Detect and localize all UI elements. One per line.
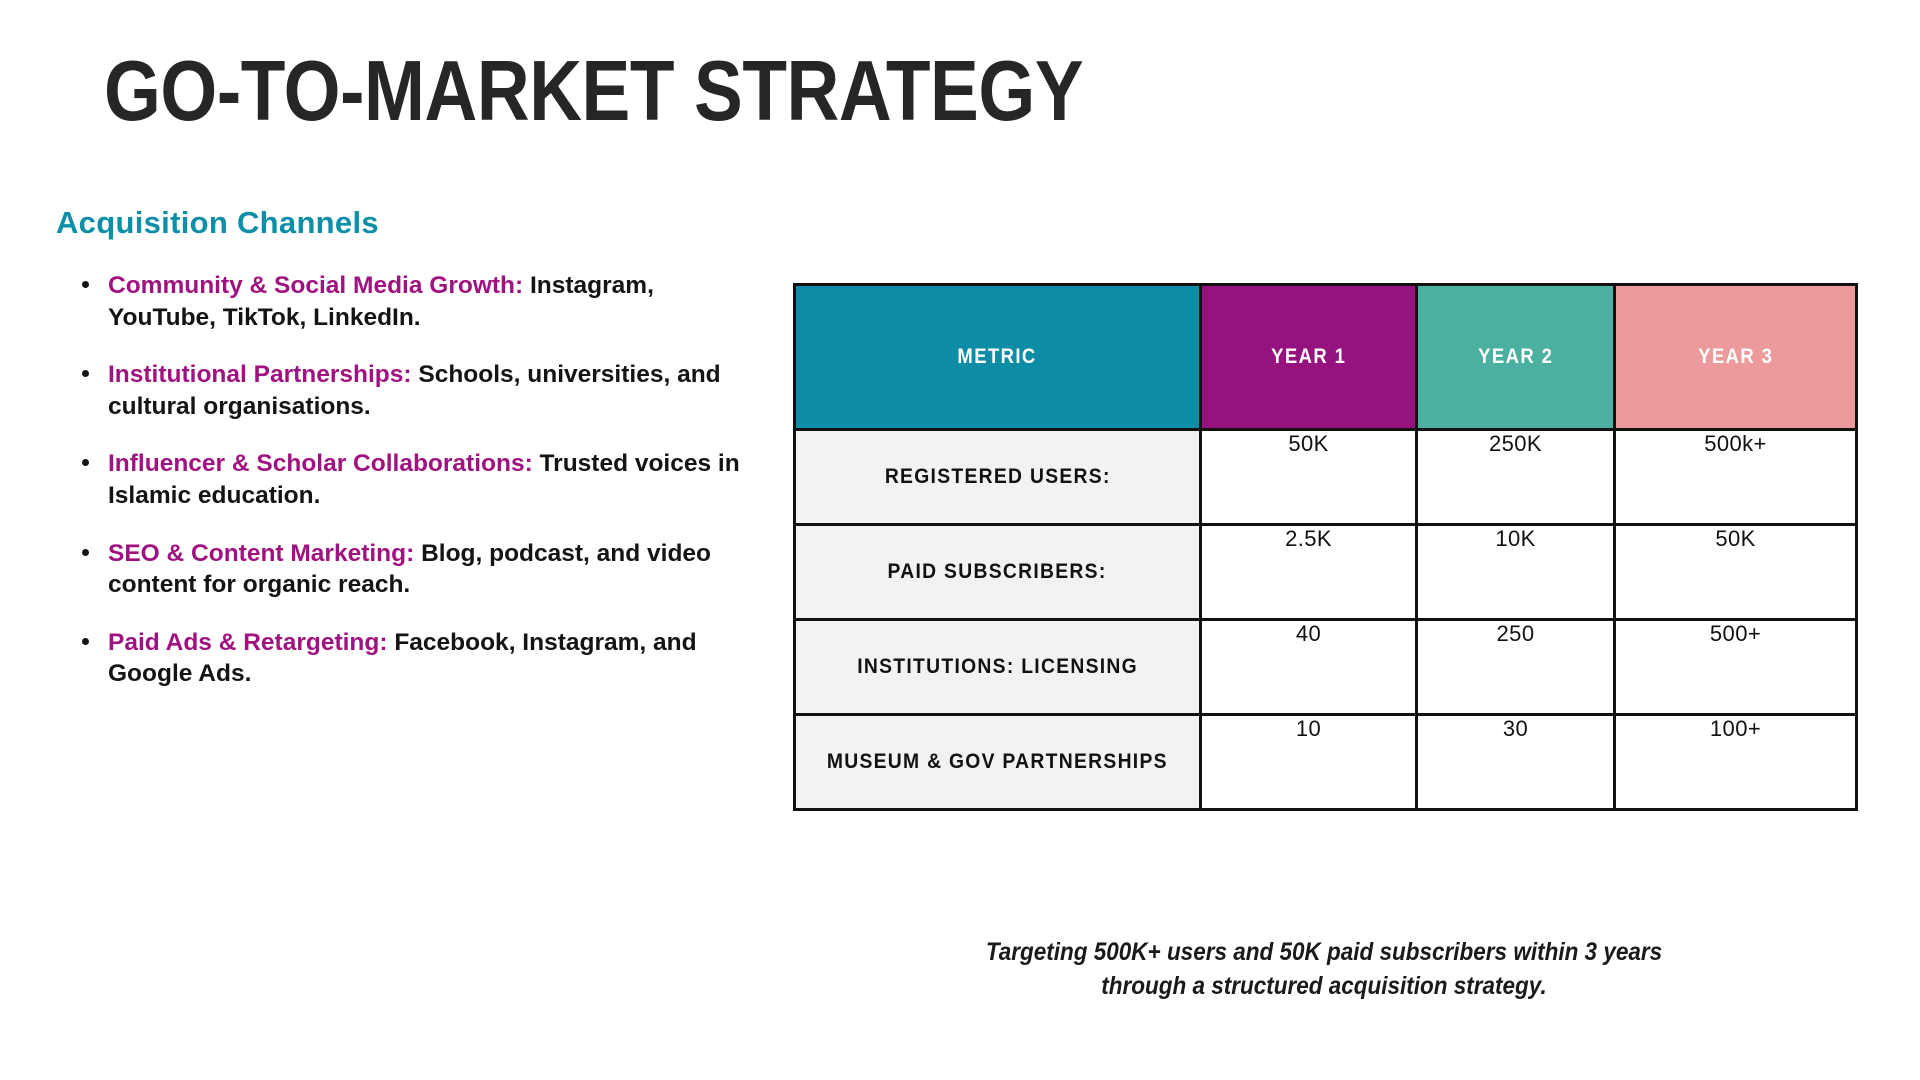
list-item: Influencer & Scholar Collaborations: Tru…: [74, 448, 766, 511]
table-row: REGISTERED USERS: 50K 250K 500k+: [795, 430, 1857, 525]
slide-canvas: GO-TO-MARKET STRATEGY Acquisition Channe…: [0, 0, 1920, 1080]
table-header-row: METRIC YEAR 1 YEAR 2 YEAR 3: [795, 285, 1857, 430]
cell-year2: 250: [1417, 620, 1615, 715]
table-caption: Targeting 500K+ users and 50K paid subsc…: [793, 935, 1855, 1003]
row-label: MUSEUM & GOV PARTNERSHIPS: [795, 715, 1201, 810]
cell-year2: 10K: [1417, 525, 1615, 620]
page-title: GO-TO-MARKET STRATEGY: [104, 46, 1083, 138]
cell-year1: 2.5K: [1201, 525, 1417, 620]
caption-line-1: Targeting 500K+ users and 50K paid subsc…: [846, 935, 1802, 969]
list-item-label: Influencer & Scholar Collaborations:: [108, 450, 533, 477]
bullet-dot-icon: [82, 459, 89, 466]
cell-year1: 10: [1201, 715, 1417, 810]
column-header-year3: YEAR 3: [1615, 285, 1857, 430]
cell-year3: 50K: [1615, 525, 1857, 620]
column-header-year1: YEAR 1: [1201, 285, 1417, 430]
row-label: REGISTERED USERS:: [795, 430, 1201, 525]
cell-year3: 500k+: [1615, 430, 1857, 525]
table-row: MUSEUM & GOV PARTNERSHIPS 10 30 100+: [795, 715, 1857, 810]
table-row: PAID SUBSCRIBERS: 2.5K 10K 50K: [795, 525, 1857, 620]
metrics-table-container: METRIC YEAR 1 YEAR 2 YEAR 3 REGISTERED U…: [793, 283, 1855, 811]
caption-line-2: through a structured acquisition strateg…: [846, 969, 1802, 1003]
table-row: INSTITUTIONS: LICENSING 40 250 500+: [795, 620, 1857, 715]
section-heading: Acquisition Channels: [56, 205, 766, 241]
bullet-dot-icon: [82, 281, 89, 288]
column-header-metric: METRIC: [795, 285, 1201, 430]
list-item-label: Paid Ads & Retargeting:: [108, 629, 388, 656]
row-label: INSTITUTIONS: LICENSING: [795, 620, 1201, 715]
list-item: Community & Social Media Growth: Instagr…: [74, 270, 766, 333]
bullet-dot-icon: [82, 549, 89, 556]
column-header-year2: YEAR 2: [1417, 285, 1615, 430]
list-item-label: Community & Social Media Growth:: [108, 272, 523, 299]
cell-year2: 30: [1417, 715, 1615, 810]
cell-year1: 50K: [1201, 430, 1417, 525]
cell-year2: 250K: [1417, 430, 1615, 525]
acquisition-channels-section: Acquisition Channels Community & Social …: [56, 205, 766, 690]
list-item: SEO & Content Marketing: Blog, podcast, …: [74, 538, 766, 601]
cell-year3: 100+: [1615, 715, 1857, 810]
list-item: Institutional Partnerships: Schools, uni…: [74, 359, 766, 422]
list-item: Paid Ads & Retargeting: Facebook, Instag…: [74, 627, 766, 690]
bullet-dot-icon: [82, 370, 89, 377]
cell-year3: 500+: [1615, 620, 1857, 715]
list-item-label: SEO & Content Marketing:: [108, 540, 414, 567]
list-item-label: Institutional Partnerships:: [108, 361, 412, 388]
row-label: PAID SUBSCRIBERS:: [795, 525, 1201, 620]
acquisition-channels-list: Community & Social Media Growth: Instagr…: [56, 270, 766, 690]
bullet-dot-icon: [82, 638, 89, 645]
cell-year1: 40: [1201, 620, 1417, 715]
metrics-table: METRIC YEAR 1 YEAR 2 YEAR 3 REGISTERED U…: [793, 283, 1858, 811]
